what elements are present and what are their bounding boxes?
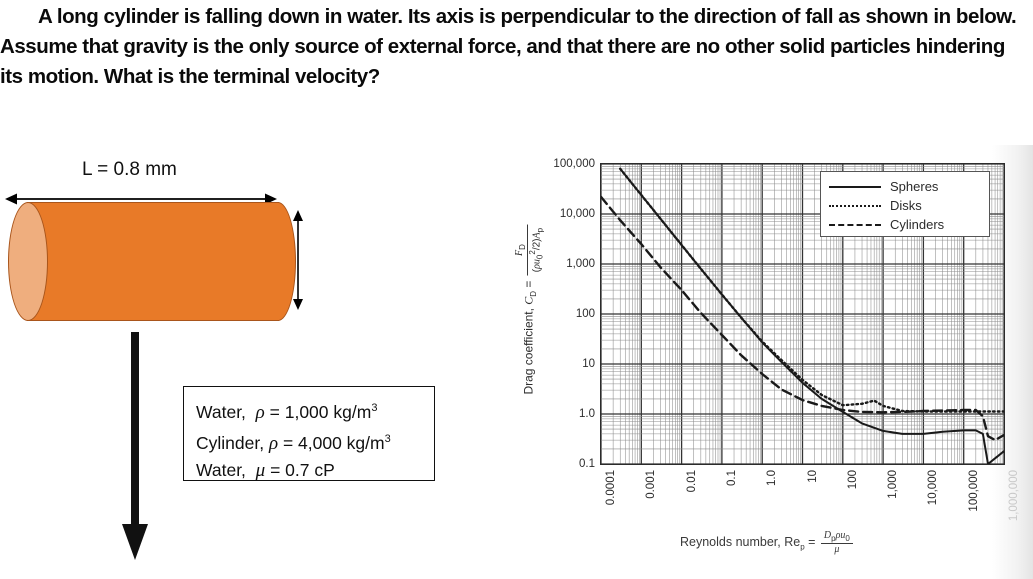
legend-item-spheres: Spheres [829, 177, 989, 196]
property-water-density-text: Water, ρ = 1,000 kg/m3 [196, 402, 377, 422]
y-tick-label: 1,000 [566, 258, 595, 270]
x-tick-label: 100,000 [968, 470, 980, 512]
legend-item-disks: Disks [829, 196, 989, 215]
chart-y-axis-ticks: 100,00010,0001,000100101.00.1 [520, 163, 595, 465]
y-tick-label: 100,000 [553, 158, 595, 170]
diameter-dimension-arrow [289, 210, 307, 310]
page-title: A long cylinder is falling down in water… [0, 2, 1020, 92]
x-tick-label: 1.0 [766, 470, 778, 486]
legend-item-cylinders: Cylinders [829, 215, 989, 234]
x-tick-label: 0.001 [645, 470, 657, 499]
length-dimension-label: L = 0.8 mm [82, 159, 177, 181]
property-water-density: Water, ρ = 1,000 kg/m3 [196, 395, 434, 426]
cylinder-body [27, 202, 279, 321]
legend-swatch-disks [829, 200, 881, 212]
property-water-viscosity-text: Water, μ = 0.7 cP [196, 460, 335, 480]
chart-legend: Spheres Disks Cylinders [820, 171, 990, 237]
y-tick-label: 1.0 [579, 408, 595, 420]
property-cylinder-density-text: Cylinder, ρ = 4,000 kg/m3 [196, 433, 391, 453]
x-tick-label: 1,000,000 [1008, 470, 1020, 521]
cylinder-left-cap [8, 202, 48, 321]
cylinder-diagram: L = 0.8 mm D = 0.2 mm Water, ρ = 1,000 k… [0, 150, 470, 579]
x-tick-label: 0.1 [726, 470, 738, 486]
y-tick-label: 0.1 [579, 458, 595, 470]
y-tick-label: 10,000 [560, 208, 595, 220]
chart-x-axis-label: Reynolds number, Rep = Dpρu0μ [680, 530, 855, 556]
legend-label-disks: Disks [890, 198, 922, 213]
x-tick-label: 10,000 [927, 470, 939, 505]
y-tick-label: 10 [582, 358, 595, 370]
properties-box: Water, ρ = 1,000 kg/m3 Cylinder, ρ = 4,0… [183, 386, 435, 481]
cylinder-body-joint [260, 204, 279, 318]
y-tick-label: 100 [576, 308, 595, 320]
fall-direction-arrow [122, 332, 148, 560]
property-cylinder-density: Cylinder, ρ = 4,000 kg/m3 [196, 426, 434, 457]
legend-label-cylinders: Cylinders [890, 217, 944, 232]
x-tick-label: 1,000 [887, 470, 899, 499]
property-water-viscosity: Water, μ = 0.7 cP [196, 457, 434, 484]
x-tick-label: 0.01 [686, 470, 698, 492]
legend-label-spheres: Spheres [890, 179, 938, 194]
legend-swatch-cylinders [829, 219, 881, 231]
legend-swatch-spheres [829, 181, 881, 193]
x-tick-label: 10 [807, 470, 819, 483]
cylinder-shape [5, 202, 287, 319]
x-tick-label: 0.0001 [605, 470, 617, 505]
drag-coefficient-chart: Drag coefficient, CD = FD(ρu02/2)Ap 100,… [520, 145, 1033, 579]
x-tick-label: 100 [847, 470, 859, 489]
